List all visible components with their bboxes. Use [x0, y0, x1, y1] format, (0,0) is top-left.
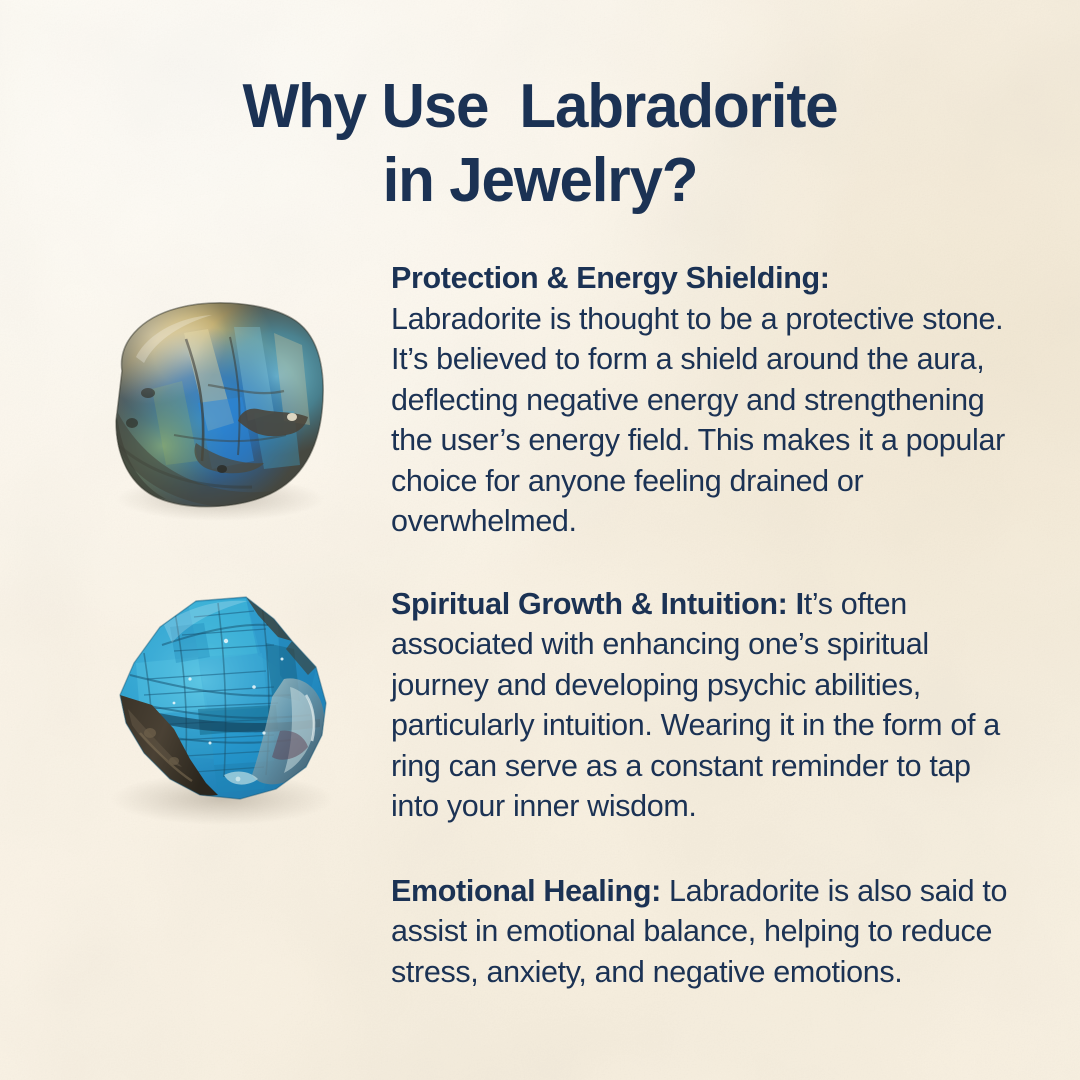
title-line-2: in Jewelry? [16, 144, 1064, 218]
benefit-heading-emotional-healing: Emotional Healing: [391, 874, 661, 908]
benefit-heading-spiritual-growth: Spiritual Growth & Intuition: I [391, 587, 804, 621]
benefit-item-spiritual-growth: Spiritual Growth & Intuition: It’s often… [391, 584, 1016, 827]
polished-labradorite-tumbled-stone [88, 293, 336, 525]
benefit-item-protection: Protection & Energy Shielding: Labradori… [391, 258, 1016, 542]
benefit-body-spiritual-growth: t’s often associated with enhancing one’… [391, 587, 1000, 824]
page-title: Why Use Labradorite in Jewelry? [0, 70, 1080, 218]
benefit-body-protection: Labradorite is thought to be a protectiv… [391, 302, 1005, 539]
benefits-list: Protection & Energy Shielding: Labradori… [391, 258, 1016, 992]
title-line-1: Why Use Labradorite [16, 70, 1064, 144]
rough-labradorite-slab [78, 583, 350, 839]
infographic-canvas: Why Use Labradorite in Jewelry? [0, 0, 1080, 1080]
benefit-heading-protection: Protection & Energy Shielding: [391, 261, 830, 295]
benefit-item-emotional-healing: Emotional Healing: Labradorite is also s… [391, 871, 1016, 993]
